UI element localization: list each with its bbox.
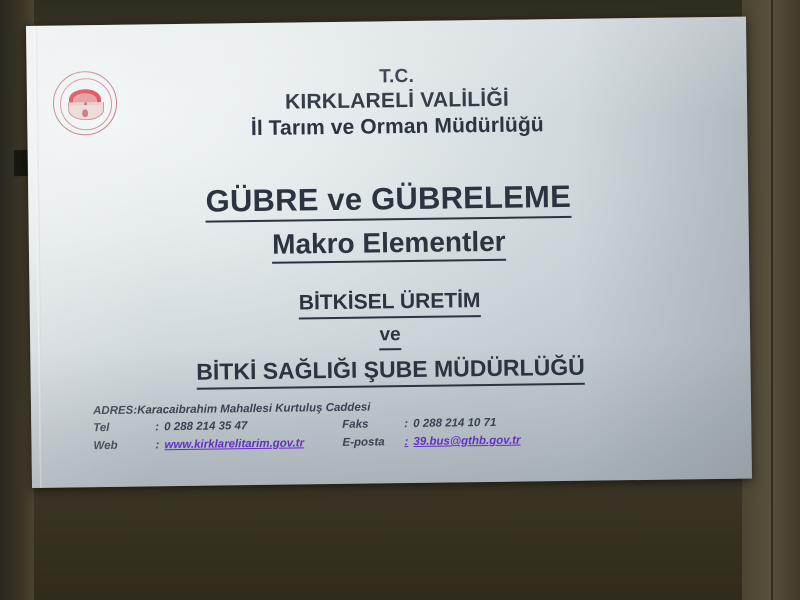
department-block: BİTKİSEL ÜRETİM ve BİTKİ SAĞLIĞI ŞUBE MÜ… [100,285,681,390]
slide-title-block: GÜBRE ve GÜBRELEME Makro Elementler [98,177,679,266]
web-colon: : [155,437,164,455]
department-line-plant-health: BİTKİ SAĞLIĞI ŞUBE MÜDÜRLÜĞÜ [196,353,585,390]
projection-screen: T.C. KIRKLARELİ VALİLİĞİ İl Tarım ve Orm… [26,17,752,488]
email-label: E-posta [336,434,404,452]
web-link[interactable]: www.kirklarelitarim.gov.tr [164,435,336,455]
fax-label: Faks [336,417,404,435]
emblem-seed [82,109,88,117]
slide-title-sub: Makro Elementler [272,226,506,265]
contact-block: ADRES : Karacaibrahim Mahallesi Kurtuluş… [93,395,694,455]
department-conjunction: ve [379,323,400,350]
tel-value: 0 288 214 35 47 [164,417,336,437]
fax-colon: : [404,416,413,434]
ministry-emblem-icon [53,71,118,136]
emblem-center-dot [83,102,86,105]
slide-title-main: GÜBRE ve GÜBRELEME [205,179,571,223]
email-colon: : [404,434,413,452]
address-label: ADRES [93,403,133,421]
wall-corner-seam [771,0,773,600]
presentation-slide: T.C. KIRKLARELİ VALİLİĞİ İl Tarım ve Orm… [26,17,752,488]
department-line-production: BİTKİSEL ÜRETİM [299,288,481,320]
photograph-of-presentation-screen: T.C. KIRKLARELİ VALİLİĞİ İl Tarım ve Orm… [0,0,800,600]
web-label: Web [93,437,155,455]
tel-label: Tel [93,420,155,438]
organization-heading: T.C. KIRKLARELİ VALİLİĞİ İl Tarım ve Orm… [177,62,618,142]
org-line-directorate: İl Tarım ve Orman Müdürlüğü [177,111,617,142]
email-link[interactable]: 39.bus@gthb.gov.tr [413,433,520,452]
fax-value: 0 288 214 10 71 [413,415,496,434]
tel-colon: : [155,420,164,438]
